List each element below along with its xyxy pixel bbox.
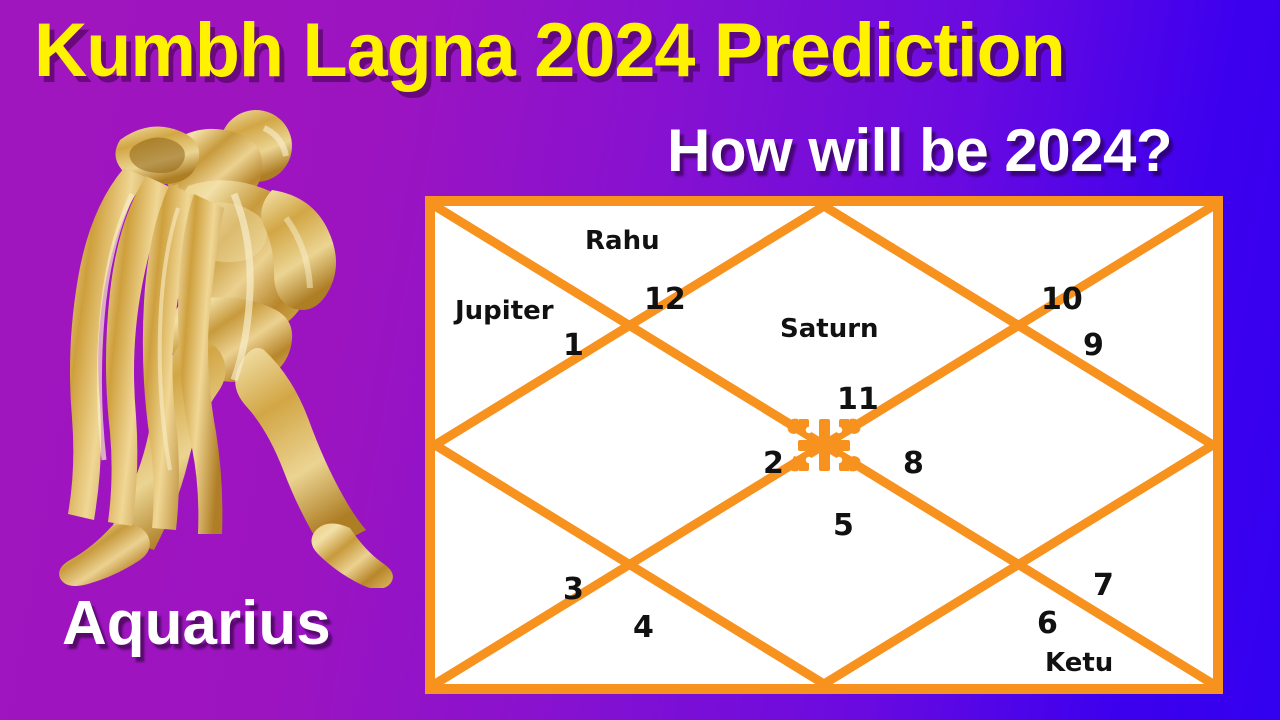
page-title: Kumbh Lagna 2024 Prediction <box>34 8 1227 94</box>
house-number-8: 8 <box>903 446 924 481</box>
house-number-12: 12 <box>644 282 686 317</box>
house-number-10: 10 <box>1041 282 1083 317</box>
planet-label-rahu: Rahu <box>585 226 660 256</box>
house-number-1: 1 <box>563 328 584 363</box>
page-subtitle: How will be 2024? <box>667 116 1172 186</box>
house-number-3: 3 <box>563 572 584 607</box>
poster-canvas: Kumbh Lagna 2024 Prediction How will be … <box>0 0 1280 720</box>
kundli-chart: 1 12 10 9 11 2 8 5 3 4 7 6 Jupiter Rahu … <box>425 196 1223 694</box>
house-number-4: 4 <box>633 610 654 645</box>
house-number-5: 5 <box>833 508 854 543</box>
planet-label-ketu: Ketu <box>1045 648 1113 678</box>
house-number-6: 6 <box>1037 606 1058 641</box>
aquarius-water-bearer-icon <box>28 98 418 588</box>
house-number-7: 7 <box>1093 568 1114 603</box>
planet-label-saturn: Saturn <box>780 314 879 344</box>
planet-label-jupiter: Jupiter <box>455 296 554 326</box>
swastika-icon <box>788 419 861 472</box>
house-number-9: 9 <box>1083 328 1104 363</box>
zodiac-sign-label: Aquarius <box>62 588 331 660</box>
house-number-2: 2 <box>763 446 784 481</box>
house-number-11: 11 <box>837 382 879 417</box>
